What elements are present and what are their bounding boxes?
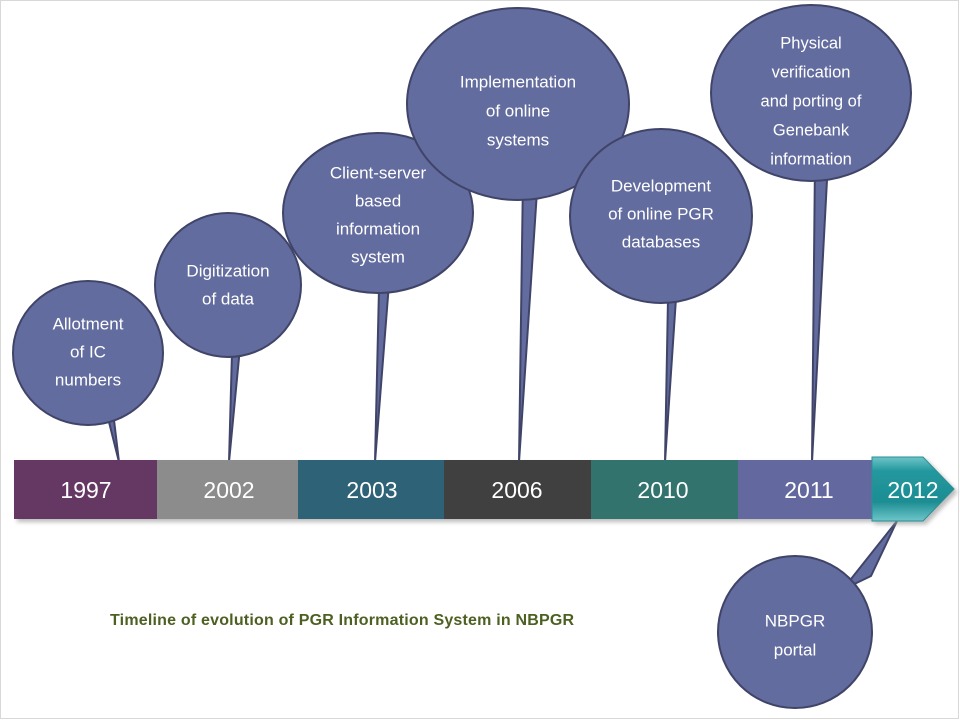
- bubble-line: systems: [487, 130, 549, 149]
- bubble-line: information: [770, 150, 852, 168]
- bubble-line: Digitization: [186, 261, 269, 280]
- year-label-1997: 1997: [60, 477, 111, 503]
- bubble-line: verification: [772, 63, 851, 81]
- bubble-line: of IC: [70, 342, 106, 361]
- callout-bubble-2010[interactable]: Development of online PGR databases: [570, 129, 752, 303]
- bubble-line: databases: [622, 232, 700, 251]
- callout-bubble-1997[interactable]: Allotment of IC numbers: [13, 281, 163, 425]
- bubble-line: NBPGR: [765, 611, 825, 630]
- bubble-line: of data: [202, 289, 255, 308]
- callout-tail-2010: [641, 298, 676, 462]
- bubble-line: and porting of: [761, 92, 862, 110]
- callout-tail-2006: [494, 176, 538, 462]
- bubble-line: Implementation: [460, 72, 576, 91]
- callout-bubble-2012[interactable]: NBPGR portal: [718, 556, 872, 708]
- bubble-line: Genebank: [773, 121, 850, 139]
- callout-bubbles: Allotment of IC numbers Digitization of …: [13, 5, 911, 708]
- callout-bubble-2002[interactable]: Digitization of data: [155, 213, 301, 357]
- bubble-line: information: [336, 219, 420, 238]
- year-label-2012: 2012: [887, 477, 938, 503]
- bubble-line: of online PGR: [608, 204, 714, 223]
- bubble-line: of online: [486, 101, 550, 120]
- bubble-line: system: [351, 247, 405, 266]
- bubble-line: Development: [611, 176, 711, 195]
- callout-bubble-2011[interactable]: Physical verification and porting of Gen…: [711, 5, 911, 181]
- bubble-line: portal: [774, 640, 817, 659]
- bubble-line: Allotment: [53, 314, 124, 333]
- year-label-2006: 2006: [491, 477, 542, 503]
- bubble-shape-2012: [718, 556, 872, 708]
- year-label-2003: 2003: [346, 477, 397, 503]
- diagram-caption: Timeline of evolution of PGR Information…: [110, 612, 574, 630]
- callout-tail-2011: [790, 161, 828, 462]
- year-label-2002: 2002: [203, 477, 254, 503]
- timeline-diagram: 1997 2002 2003 2006 2010 2011 2012 Allot…: [0, 0, 960, 720]
- bubble-line: based: [355, 191, 401, 210]
- year-label-2011: 2011: [784, 477, 833, 503]
- year-label-2010: 2010: [637, 477, 688, 503]
- bubble-shape-2002: [155, 213, 301, 357]
- bubble-line: Physical: [780, 34, 841, 52]
- bubble-line: numbers: [55, 370, 121, 389]
- bubble-line: Client-server: [330, 163, 427, 182]
